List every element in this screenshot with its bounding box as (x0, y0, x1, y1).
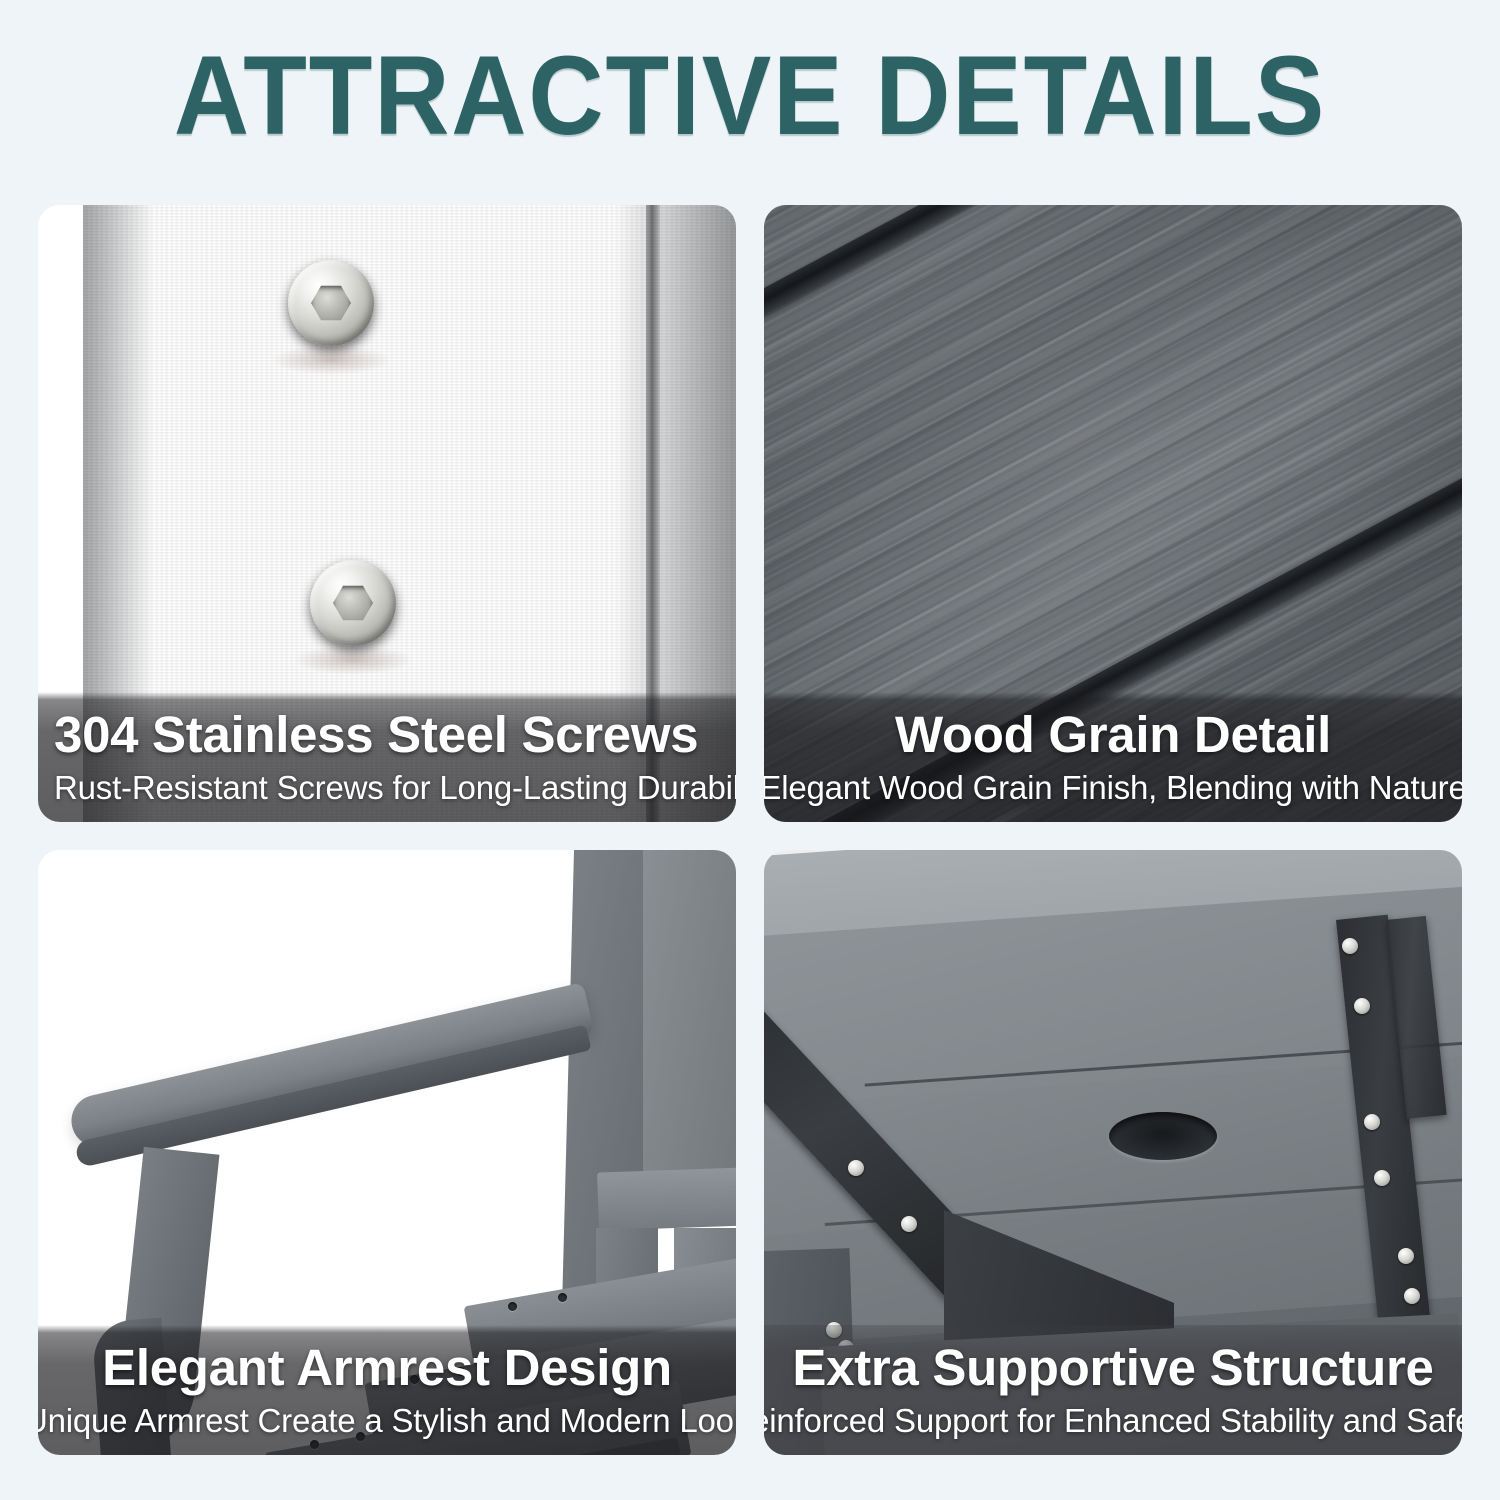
panel-heading: 304 Stainless Steel Screws (54, 704, 698, 766)
panel-heading: Elegant Armrest Design (102, 1337, 672, 1399)
chair-back-rail (597, 1167, 736, 1230)
panel-subheading: Rust-Resistant Screws for Long-Lasting D… (54, 766, 736, 810)
screw-lower-icon (310, 560, 396, 646)
page-title: ATTRACTIVE DETAILS (53, 42, 1448, 150)
screw-halo-upper (271, 345, 391, 375)
bracket-bolt (1398, 1248, 1414, 1264)
bracket-bolt (848, 1160, 864, 1176)
detail-panel-stainless-steel-screws[interactable]: 304 Stainless Steel Screws Rust-Resistan… (38, 205, 736, 822)
umbrella-hole (1109, 1112, 1217, 1160)
panel-subheading: Unique Armrest Create a Stylish and Mode… (38, 1399, 736, 1443)
bracket-bolt (901, 1216, 917, 1232)
bracket-bolt (1404, 1288, 1420, 1304)
details-grid: 304 Stainless Steel Screws Rust-Resistan… (38, 205, 1462, 1455)
panel-caption: 304 Stainless Steel Screws Rust-Resistan… (38, 692, 736, 822)
panel-subheading: Elegant Wood Grain Finish, Blending with… (764, 766, 1462, 810)
panel-caption: Wood Grain Detail Elegant Wood Grain Fin… (764, 692, 1462, 822)
bracket-bolt (1374, 1170, 1390, 1186)
screw-halo-lower (293, 645, 413, 675)
chair-back-slat-upper (643, 850, 736, 1200)
screw-hole (558, 1293, 567, 1302)
bracket-bolt (1364, 1114, 1380, 1130)
panel-heading: Extra Supportive Structure (792, 1337, 1433, 1399)
panel-subheading: Reinforced Support for Enhanced Stabilit… (764, 1399, 1462, 1443)
bracket-bolt (1342, 938, 1358, 954)
bracket-bolt (1354, 998, 1370, 1014)
panel-heading: Wood Grain Detail (895, 704, 1331, 766)
screw-hole (508, 1302, 517, 1311)
detail-panel-extra-supportive-structure[interactable]: Extra Supportive Structure Reinforced Su… (764, 850, 1462, 1455)
panel-caption: Extra Supportive Structure Reinforced Su… (764, 1325, 1462, 1455)
screw-upper-icon (288, 260, 374, 346)
detail-panel-wood-grain-detail[interactable]: Wood Grain Detail Elegant Wood Grain Fin… (764, 205, 1462, 822)
panel-caption: Elegant Armrest Design Unique Armrest Cr… (38, 1325, 736, 1455)
detail-panel-elegant-armrest-design[interactable]: Elegant Armrest Design Unique Armrest Cr… (38, 850, 736, 1455)
